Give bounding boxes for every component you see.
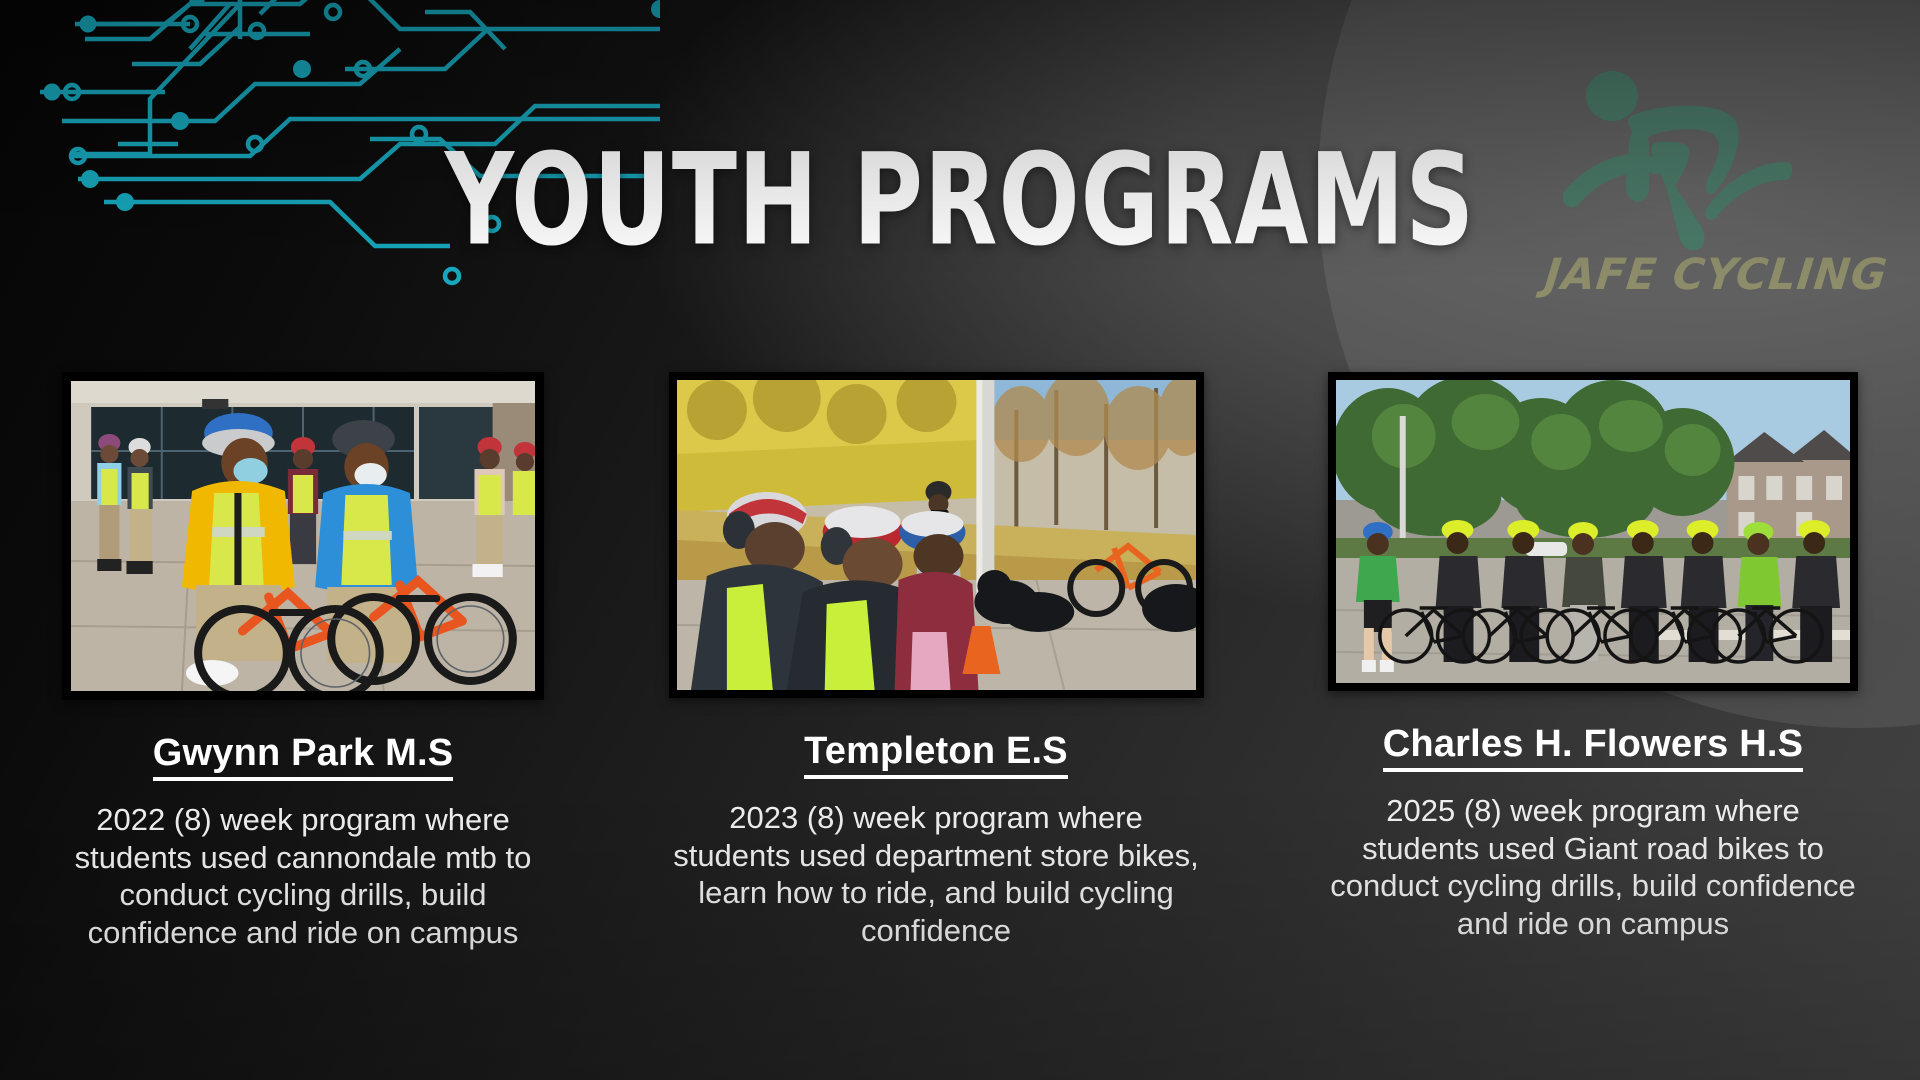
program-cards-row: Gwynn Park M.S 2022 (8) week program whe… — [0, 372, 1920, 952]
card-title: Gwynn Park M.S — [62, 733, 544, 775]
card-description: 2023 (8) week program where students use… — [669, 799, 1204, 950]
card-title-text: Gwynn Park M.S — [153, 732, 454, 781]
photo-frame — [669, 372, 1204, 698]
logo-wordmark: JAFE CYCLING — [1542, 250, 1847, 300]
program-card: Charles H. Flowers H.S 2025 (8) week pro… — [1328, 372, 1858, 952]
card-description: 2025 (8) week program where students use… — [1328, 792, 1858, 943]
slide-youth-programs: YOUTH PROGRAMS JAFE CYCLING — [0, 0, 1920, 1080]
card-title-text: Charles H. Flowers H.S — [1383, 723, 1803, 772]
program-photo-gwynn-park — [71, 381, 535, 691]
card-title: Charles H. Flowers H.S — [1328, 724, 1858, 766]
jafe-cycling-logo: JAFE CYCLING — [1545, 58, 1845, 308]
card-title-text: Templeton E.S — [804, 730, 1068, 779]
photo-frame — [62, 372, 544, 700]
photo-frame — [1328, 372, 1858, 691]
program-photo-templeton — [677, 380, 1196, 690]
card-title: Templeton E.S — [669, 731, 1204, 773]
program-photo-charles-flowers — [1336, 380, 1850, 683]
program-card: Gwynn Park M.S 2022 (8) week program whe… — [62, 372, 544, 952]
program-card: Templeton E.S 2023 (8) week program wher… — [669, 372, 1204, 952]
card-description: 2022 (8) week program where students use… — [62, 801, 544, 952]
cyclist-icon — [1555, 58, 1795, 258]
